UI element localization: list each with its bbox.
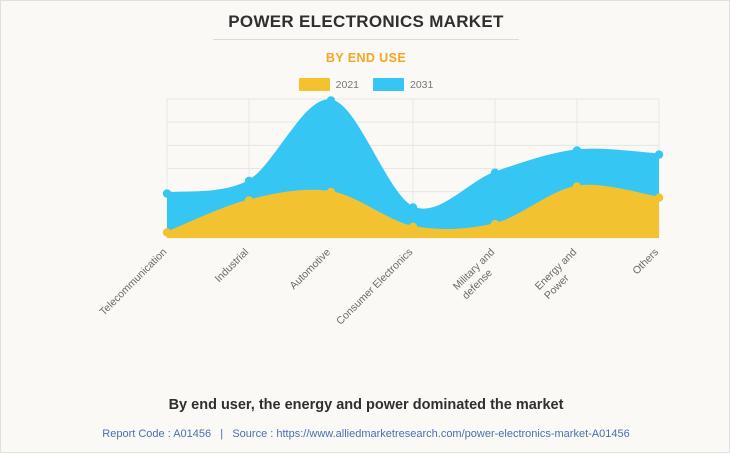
data-point[interactable] [409, 203, 417, 211]
chart-plot-area [167, 99, 659, 238]
data-point[interactable] [327, 188, 335, 196]
area-chart-svg [167, 99, 659, 238]
chart-subtitle: BY END USE [1, 51, 730, 65]
chart-legend: 2021 2031 [1, 78, 730, 91]
title-divider [213, 39, 519, 40]
data-point[interactable] [655, 193, 663, 201]
legend-swatch-2031 [373, 78, 404, 91]
legend-swatch-2021 [299, 78, 330, 91]
data-point[interactable] [491, 220, 499, 228]
data-point[interactable] [491, 168, 499, 176]
x-axis-label: Telecommunication [97, 246, 170, 319]
data-point[interactable] [245, 177, 253, 185]
data-point[interactable] [409, 223, 417, 231]
data-point[interactable] [655, 150, 663, 158]
x-axis-label: Others [630, 246, 662, 278]
report-code-text: Report Code : A01456 [102, 428, 211, 440]
source-url-text: Source : https://www.alliedmarketresearc… [232, 428, 629, 440]
data-point[interactable] [573, 182, 581, 190]
legend-label-2021: 2021 [336, 79, 359, 91]
source-separator: | [214, 428, 229, 440]
chart-caption: By end user, the energy and power domina… [1, 397, 730, 413]
legend-label-2031: 2031 [410, 79, 433, 91]
chart-source-line: Report Code : A01456 | Source : https://… [1, 428, 730, 440]
legend-item-2031[interactable]: 2031 [373, 78, 433, 91]
data-point[interactable] [573, 146, 581, 154]
x-axis-label: Industrial [213, 246, 252, 285]
chart-x-axis-labels: TelecommunicationIndustrialAutomotiveCon… [1, 238, 730, 348]
chart-card: POWER ELECTRONICS MARKET BY END USE 2021… [0, 0, 730, 453]
data-point[interactable] [327, 96, 335, 104]
page-title: POWER ELECTRONICS MARKET [1, 12, 730, 32]
x-axis-label: Consumer Electronics [334, 246, 416, 328]
legend-item-2021[interactable]: 2021 [299, 78, 359, 91]
data-point[interactable] [245, 196, 253, 204]
x-axis-label: Military anddefense [451, 246, 508, 303]
x-axis-label: Automotive [288, 246, 334, 292]
data-point[interactable] [163, 189, 171, 197]
data-point[interactable] [163, 228, 171, 236]
x-axis-label: Energy andPower [533, 246, 590, 303]
